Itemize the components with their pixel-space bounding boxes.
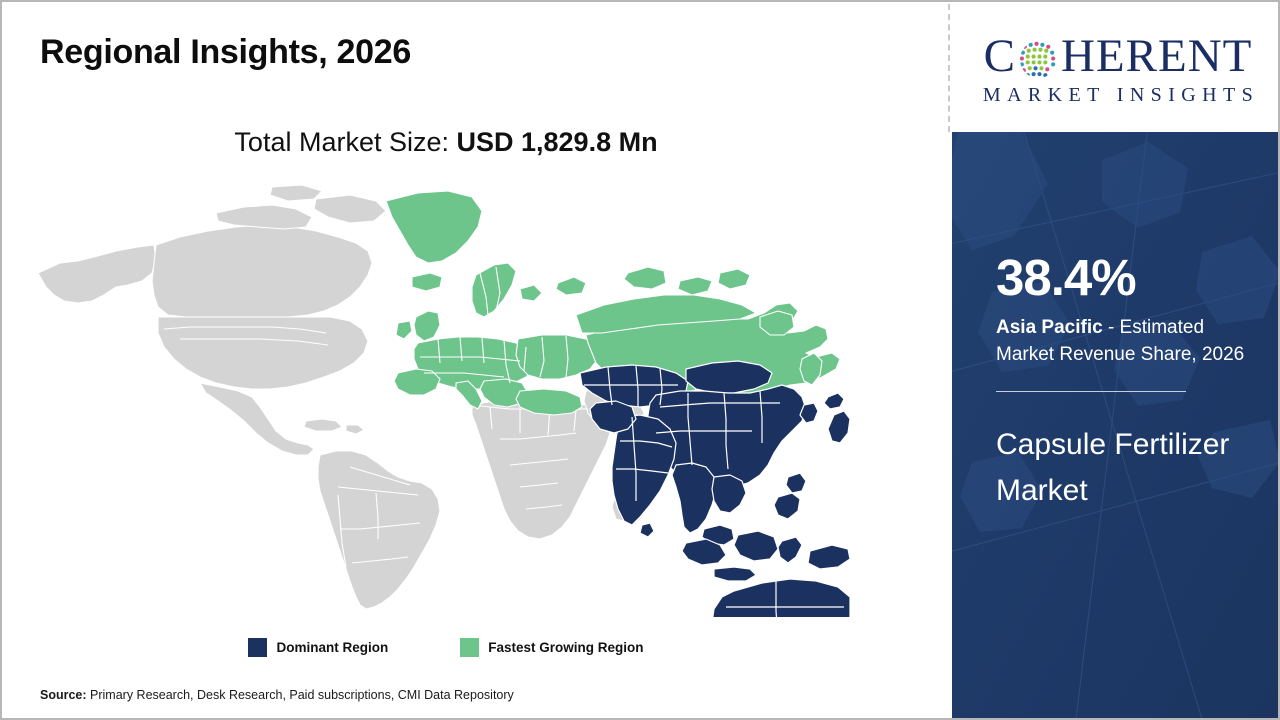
logo-letter-c: C	[984, 33, 1016, 80]
legend-item-dominant: Dominant Region	[248, 638, 388, 657]
legend-label-fastest-growing: Fastest Growing Region	[488, 640, 643, 655]
square-swatch-icon	[248, 638, 267, 657]
source-text: Primary Research, Desk Research, Paid su…	[87, 688, 514, 702]
map-legend: Dominant Region Fastest Growing Region	[2, 638, 890, 657]
market-share-description: Asia Pacific - Estimated Market Revenue …	[996, 315, 1246, 369]
total-market-size-label: Total Market Size:	[234, 127, 456, 157]
panel-content: 38.4% Asia Pacific - Estimated Market Re…	[952, 132, 1280, 718]
world-map-svg	[20, 177, 850, 617]
company-logo: C	[962, 24, 1274, 116]
logo-letters-herent: HERENT	[1061, 33, 1252, 80]
market-name: Capsule Fertilizer Market	[996, 422, 1246, 514]
regional-highlight-panel: 38.4% Asia Pacific - Estimated Market Re…	[952, 132, 1280, 718]
map-dominant-regions	[580, 361, 850, 617]
panel-divider-rule	[996, 391, 1186, 392]
legend-item-fastest-growing: Fastest Growing Region	[460, 638, 643, 657]
legend-label-dominant: Dominant Region	[276, 640, 388, 655]
source-label: Source:	[40, 688, 87, 702]
source-note: Source: Primary Research, Desk Research,…	[40, 688, 514, 702]
region-name: Asia Pacific	[996, 317, 1103, 338]
market-share-value: 38.4%	[996, 252, 1246, 303]
total-market-size-value: USD 1,829.8 Mn	[457, 127, 658, 157]
total-market-size: Total Market Size: USD 1,829.8 Mn	[2, 127, 890, 158]
page-title: Regional Insights, 2026	[40, 33, 411, 72]
world-map-container	[20, 177, 850, 617]
main-content-area: Regional Insights, 2026 Total Market Siz…	[2, 2, 950, 718]
dotted-globe-icon	[1017, 38, 1060, 81]
logo-tagline: MARKET INSIGHTS	[977, 84, 1259, 107]
logo-wordmark: C	[984, 33, 1253, 80]
vertical-dashed-divider	[948, 4, 950, 132]
square-swatch-icon	[460, 638, 479, 657]
infographic-slide: Regional Insights, 2026 Total Market Siz…	[0, 0, 1280, 720]
